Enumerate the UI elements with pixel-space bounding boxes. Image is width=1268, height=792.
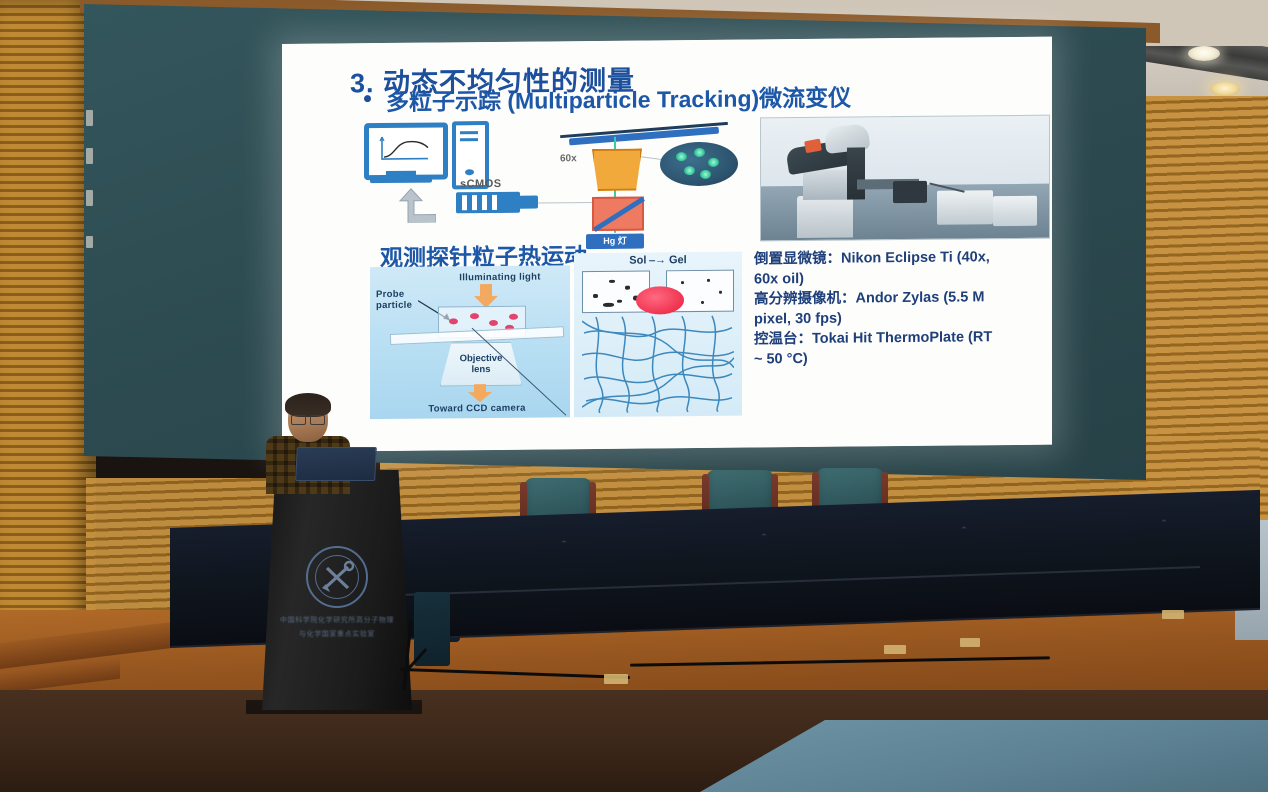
sol-gel-title: Sol ⎯→ Gel [574,254,742,269]
optical-setup-diagram: sCMOS 60x Hg 灯 [364,117,754,231]
presenter-hair [285,393,331,417]
polymer-network-mesh [582,314,734,413]
camera-fins [462,195,502,210]
camera-module [893,181,927,203]
slide-bullet: 多粒子示踪 (Multiparticle Tracking)微流变仪 [386,79,851,117]
presenter-glasses-icon [291,415,325,423]
bullet-marker [364,95,371,102]
presenter-laptop [295,447,377,481]
dichroic-mirror-icon [592,197,644,231]
spec-line-6: ~ 50 °C) [754,347,1052,370]
microscope-body [803,170,847,200]
mirror-line [593,197,645,232]
lecture-hall-scene: 3. 动态不均匀性的测量 多粒子示踪 (Multiparticle Tracki… [0,0,1268,792]
sample-well-icon [660,142,738,187]
podium-text-line2: 与化学国家重点实验室 [262,630,412,640]
table-panel-chevron [922,525,1006,560]
probe-label-line2: particle [376,300,412,311]
probe-particle-diagram: Probe particle Illuminating light [370,265,570,419]
table-panel-chevron [722,532,806,567]
board-clip [86,236,93,248]
podium: 中国科学院化学研究所高分子物理 与化学国家重点实验室 [262,470,412,710]
cable-tape [1162,610,1184,619]
scmos-label: sCMOS [460,178,502,190]
microscope-base [797,196,853,239]
left-wood-wall [0,0,96,640]
table-panel-chevron [1122,518,1206,553]
equipment-spec-text: 倒置显微镜：Nikon Eclipse Ti (40x, 60x oil) 高分… [754,247,1052,370]
probe-label-line1: Probe [376,289,404,300]
crossed-tools-icon [308,548,366,606]
illuminating-light-label: Illuminating light [440,271,560,283]
podium-text-line1: 中国科学院化学研究所高分子物理 [262,616,412,626]
microscope-photo [760,115,1050,242]
sol-gel-diagram: Sol ⎯→ Gel [574,252,742,418]
illumination-arrow-icon [474,284,498,308]
university-emblem-icon [306,546,368,608]
controller-box [993,196,1037,226]
microscope-neck [847,147,865,199]
data-flow-arrow-icon [394,187,436,223]
camera-nose [520,196,538,209]
beam-path [538,202,594,204]
ceiling-downlight [1210,82,1240,96]
particle-callout-line [466,323,570,420]
objective-magnification-label: 60x [560,153,577,164]
cable-tape [604,674,628,684]
cable-tape [884,645,906,654]
plot-curve-icon [378,135,430,163]
table-panel-chevron [522,539,606,574]
lamp-housing [937,190,993,225]
projection-screen: 3. 动态不均匀性的测量 多粒子示踪 (Multiparticle Tracki… [282,37,1052,452]
objective-lens-icon [592,149,642,191]
board-clip [86,110,93,126]
ceiling-downlight [1188,46,1220,61]
cable-tape [960,638,980,647]
board-clip [86,190,93,206]
monitor-base [370,176,432,184]
slide-content: 3. 动态不均匀性的测量 多粒子示踪 (Multiparticle Tracki… [282,37,1052,452]
mercury-lamp-label: Hg 灯 [586,234,644,250]
board-clip [86,148,93,164]
mercury-lamp-icon: Hg 灯 [586,234,644,250]
